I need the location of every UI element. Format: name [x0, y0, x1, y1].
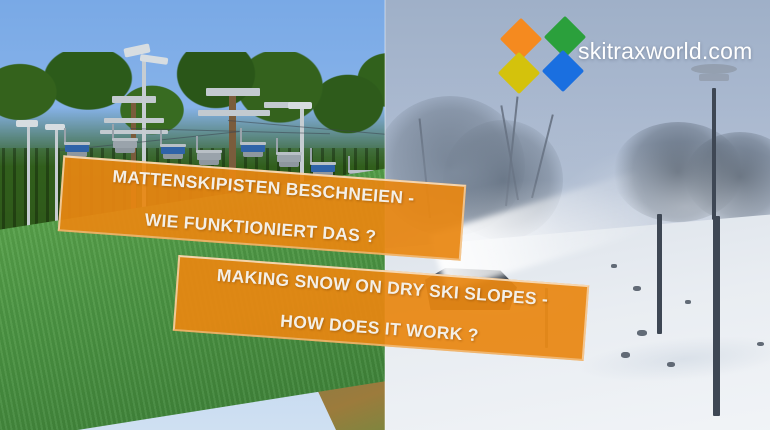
slope-pole: [657, 214, 662, 334]
snow-debris: [685, 300, 691, 304]
snow-debris: [621, 352, 630, 358]
lift-pylon-head: [104, 118, 164, 123]
snow-debris: [637, 330, 647, 336]
flood-light-head: [45, 124, 65, 130]
hero-image: skitraxworld.com MATTENSKIPISTEN BESCHNE…: [0, 0, 770, 430]
flood-light-head: [288, 102, 312, 109]
lift-pylon-head: [112, 96, 156, 103]
site-logo[interactable]: skitraxworld.com: [504, 22, 756, 84]
lift-pylon-head: [198, 110, 270, 116]
lift-pylon-head: [206, 88, 260, 96]
flood-light-head: [16, 120, 38, 127]
snow-debris: [633, 286, 641, 291]
snow-debris: [667, 362, 675, 367]
site-name-text: skitraxworld.com: [578, 38, 752, 65]
snow-debris: [757, 342, 764, 346]
lift-pylon-head: [100, 130, 168, 134]
slope-pole: [713, 216, 720, 416]
snow-debris: [611, 264, 617, 268]
